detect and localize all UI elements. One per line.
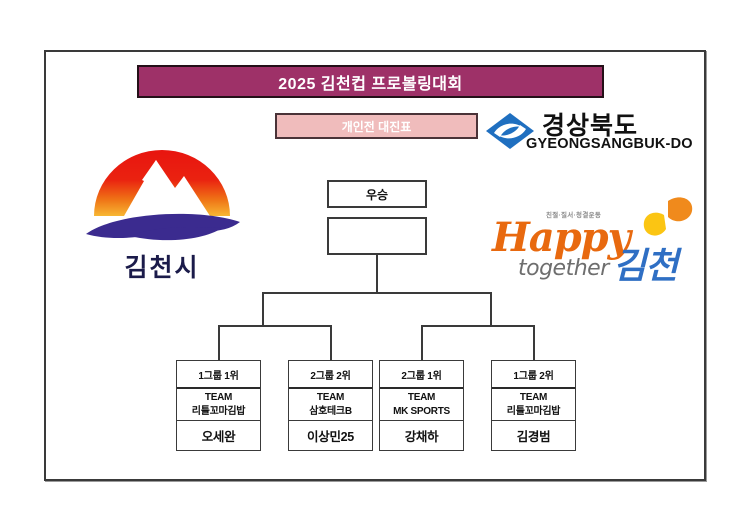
entry-rank: 1그룹 2위 [492, 361, 575, 387]
entry-team-line1: TEAM [317, 391, 344, 405]
gyeongsangbuk-do-logo: 경상북도 GYEONGSANGBUK-DO [484, 107, 699, 167]
butterfly-icon [634, 195, 696, 243]
happy-gimcheon-korean: 김천 [613, 237, 677, 289]
connector-semi-bar-right [421, 325, 535, 327]
connector-team-drop-1 [218, 325, 220, 360]
entry-team-line2: 리틀꼬마김밥 [192, 405, 245, 419]
entry-player: 강채하 [380, 421, 463, 450]
entry-team-line1: TEAM [408, 391, 435, 405]
bracket-entry[interactable]: 1그룹 2위 TEAM 리틀꼬마김밥 김경범 [491, 360, 576, 451]
entry-rank: 2그룹 2위 [289, 361, 372, 387]
tournament-title-text: 2025 김천컵 프로볼링대회 [278, 70, 462, 94]
entry-team-line1: TEAM [520, 391, 547, 405]
entry-rank: 2그룹 1위 [380, 361, 463, 387]
entry-team-line2: MK SPORTS [393, 405, 450, 419]
content-frame: 2025 김천컵 프로볼링대회 개인전 대진표 [44, 50, 706, 481]
entry-team: TEAM 리틀꼬마김밥 [177, 387, 260, 421]
bracket-entry[interactable]: 2그룹 1위 TEAM MK SPORTS 강채하 [379, 360, 464, 451]
subtitle-text: 개인전 대진표 [342, 118, 412, 135]
tournament-title-banner: 2025 김천컵 프로볼링대회 [137, 65, 604, 98]
entry-player: 김경범 [492, 421, 575, 450]
gimcheon-city-name: 김천시 [72, 248, 252, 284]
subtitle-banner: 개인전 대진표 [275, 113, 478, 139]
gyeongsangbuk-do-english: GYEONGSANGBUK-DO [526, 136, 693, 152]
entry-team: TEAM MK SPORTS [380, 387, 463, 421]
connector-champion-stem [376, 255, 378, 292]
happy-gimcheon-logo: 친절·질서·청결운동 Happy together 김천 [486, 197, 701, 297]
connector-team-drop-2 [330, 325, 332, 360]
gimcheon-city-logo: 김천시 [72, 130, 252, 290]
entry-team: TEAM 리틀꼬마김밥 [492, 387, 575, 421]
entry-team-line2: 삼호테크B [309, 405, 352, 419]
entry-player: 오세완 [177, 421, 260, 450]
entry-team-line2: 리틀꼬마김밥 [507, 405, 560, 419]
champion-label-box: 우승 [327, 180, 427, 208]
connector-final-drop-right [490, 292, 492, 325]
entry-player: 이상민25 [289, 421, 372, 450]
connector-team-drop-3 [421, 325, 423, 360]
entry-rank: 1그룹 1위 [177, 361, 260, 387]
champion-label-text: 우승 [366, 186, 388, 203]
together-word: together [518, 256, 609, 281]
connector-final-bar [262, 292, 492, 294]
connector-semi-bar-left [218, 325, 332, 327]
bracket-entry[interactable]: 1그룹 1위 TEAM 리틀꼬마김밥 오세완 [176, 360, 261, 451]
bracket-entry[interactable]: 2그룹 2위 TEAM 삼호테크B 이상민25 [288, 360, 373, 451]
connector-final-drop-left [262, 292, 264, 325]
entry-team-line1: TEAM [205, 391, 232, 405]
bracket-page: 2025 김천컵 프로볼링대회 개인전 대진표 [0, 0, 750, 531]
connector-team-drop-4 [533, 325, 535, 360]
gimcheon-city-mark-icon [72, 130, 252, 250]
champion-winner-box[interactable] [327, 217, 427, 255]
entry-team: TEAM 삼호테크B [289, 387, 372, 421]
happy-word: Happy [492, 214, 630, 261]
